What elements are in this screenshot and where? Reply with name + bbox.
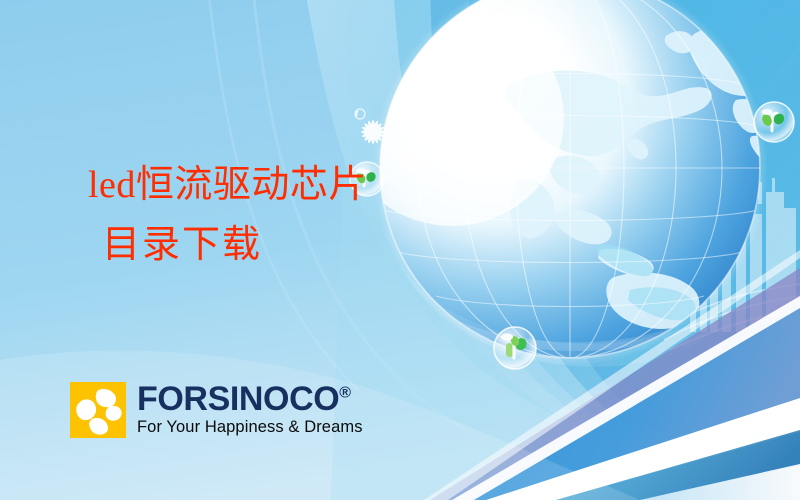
starburst-lower [400, 143, 430, 173]
company-logo[interactable]: FORSINOCO® For Your Happiness & Dreams [70, 382, 363, 438]
logo-wordmark-text: FORSINOCO [137, 380, 339, 418]
banner-canvas: led恒流驱动芯片 目录下载 FORSINOCO® For Your Happi… [0, 0, 800, 500]
forsinoco-flower-mark [70, 382, 126, 438]
logo-text-block: FORSINOCO® For Your Happiness & Dreams [137, 383, 363, 437]
starburst-upper [361, 120, 385, 144]
logo-wordmark: FORSINOCO® [137, 383, 363, 416]
registered-trademark-icon: ® [339, 385, 351, 402]
flower-petals [76, 388, 121, 434]
bubble-eco-bottom-center [494, 327, 536, 369]
bubble-eco-right-top [754, 102, 794, 142]
logo-tagline: For Your Happiness & Dreams [137, 418, 363, 437]
bubble-eco-small-left [350, 162, 384, 196]
